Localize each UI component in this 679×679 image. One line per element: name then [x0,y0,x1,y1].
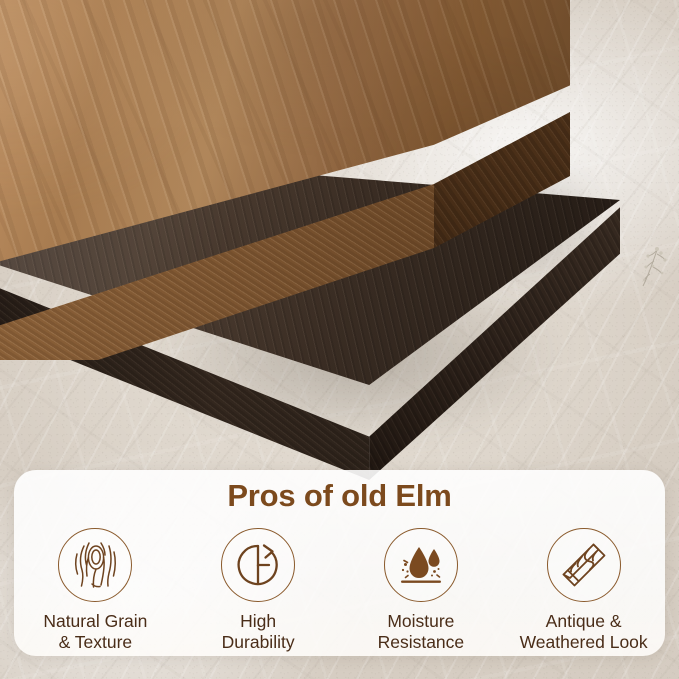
pros-info-panel: Pros of old Elm [14,470,665,656]
feature-list: Natural Grain & Texture High Durability [14,528,665,652]
light-walnut-board [0,0,570,360]
wood-plank-icon [559,540,609,590]
feature-icon-circle [384,528,458,602]
feature-high-durability[interactable]: High Durability [177,528,340,652]
feature-icon-circle [547,528,621,602]
feature-label: Natural Grain & Texture [43,611,147,652]
wood-grain-icon [70,540,120,590]
feature-natural-grain[interactable]: Natural Grain & Texture [14,528,177,652]
feature-icon-circle [58,528,132,602]
feature-antique-weathered[interactable]: Antique & Weathered Look [502,528,665,652]
panel-title: Pros of old Elm [14,478,665,514]
water-droplet-icon [396,540,446,590]
feature-label: Antique & Weathered Look [520,611,648,652]
feature-moisture-resistance[interactable]: Moisture Resistance [340,528,503,652]
clock-refresh-icon [234,541,282,589]
dried-flower-sprig-icon [637,236,673,288]
feature-icon-circle [221,528,295,602]
feature-label: Moisture Resistance [378,611,465,652]
product-infographic: Pros of old Elm [0,0,679,679]
feature-label: High Durability [222,611,295,652]
